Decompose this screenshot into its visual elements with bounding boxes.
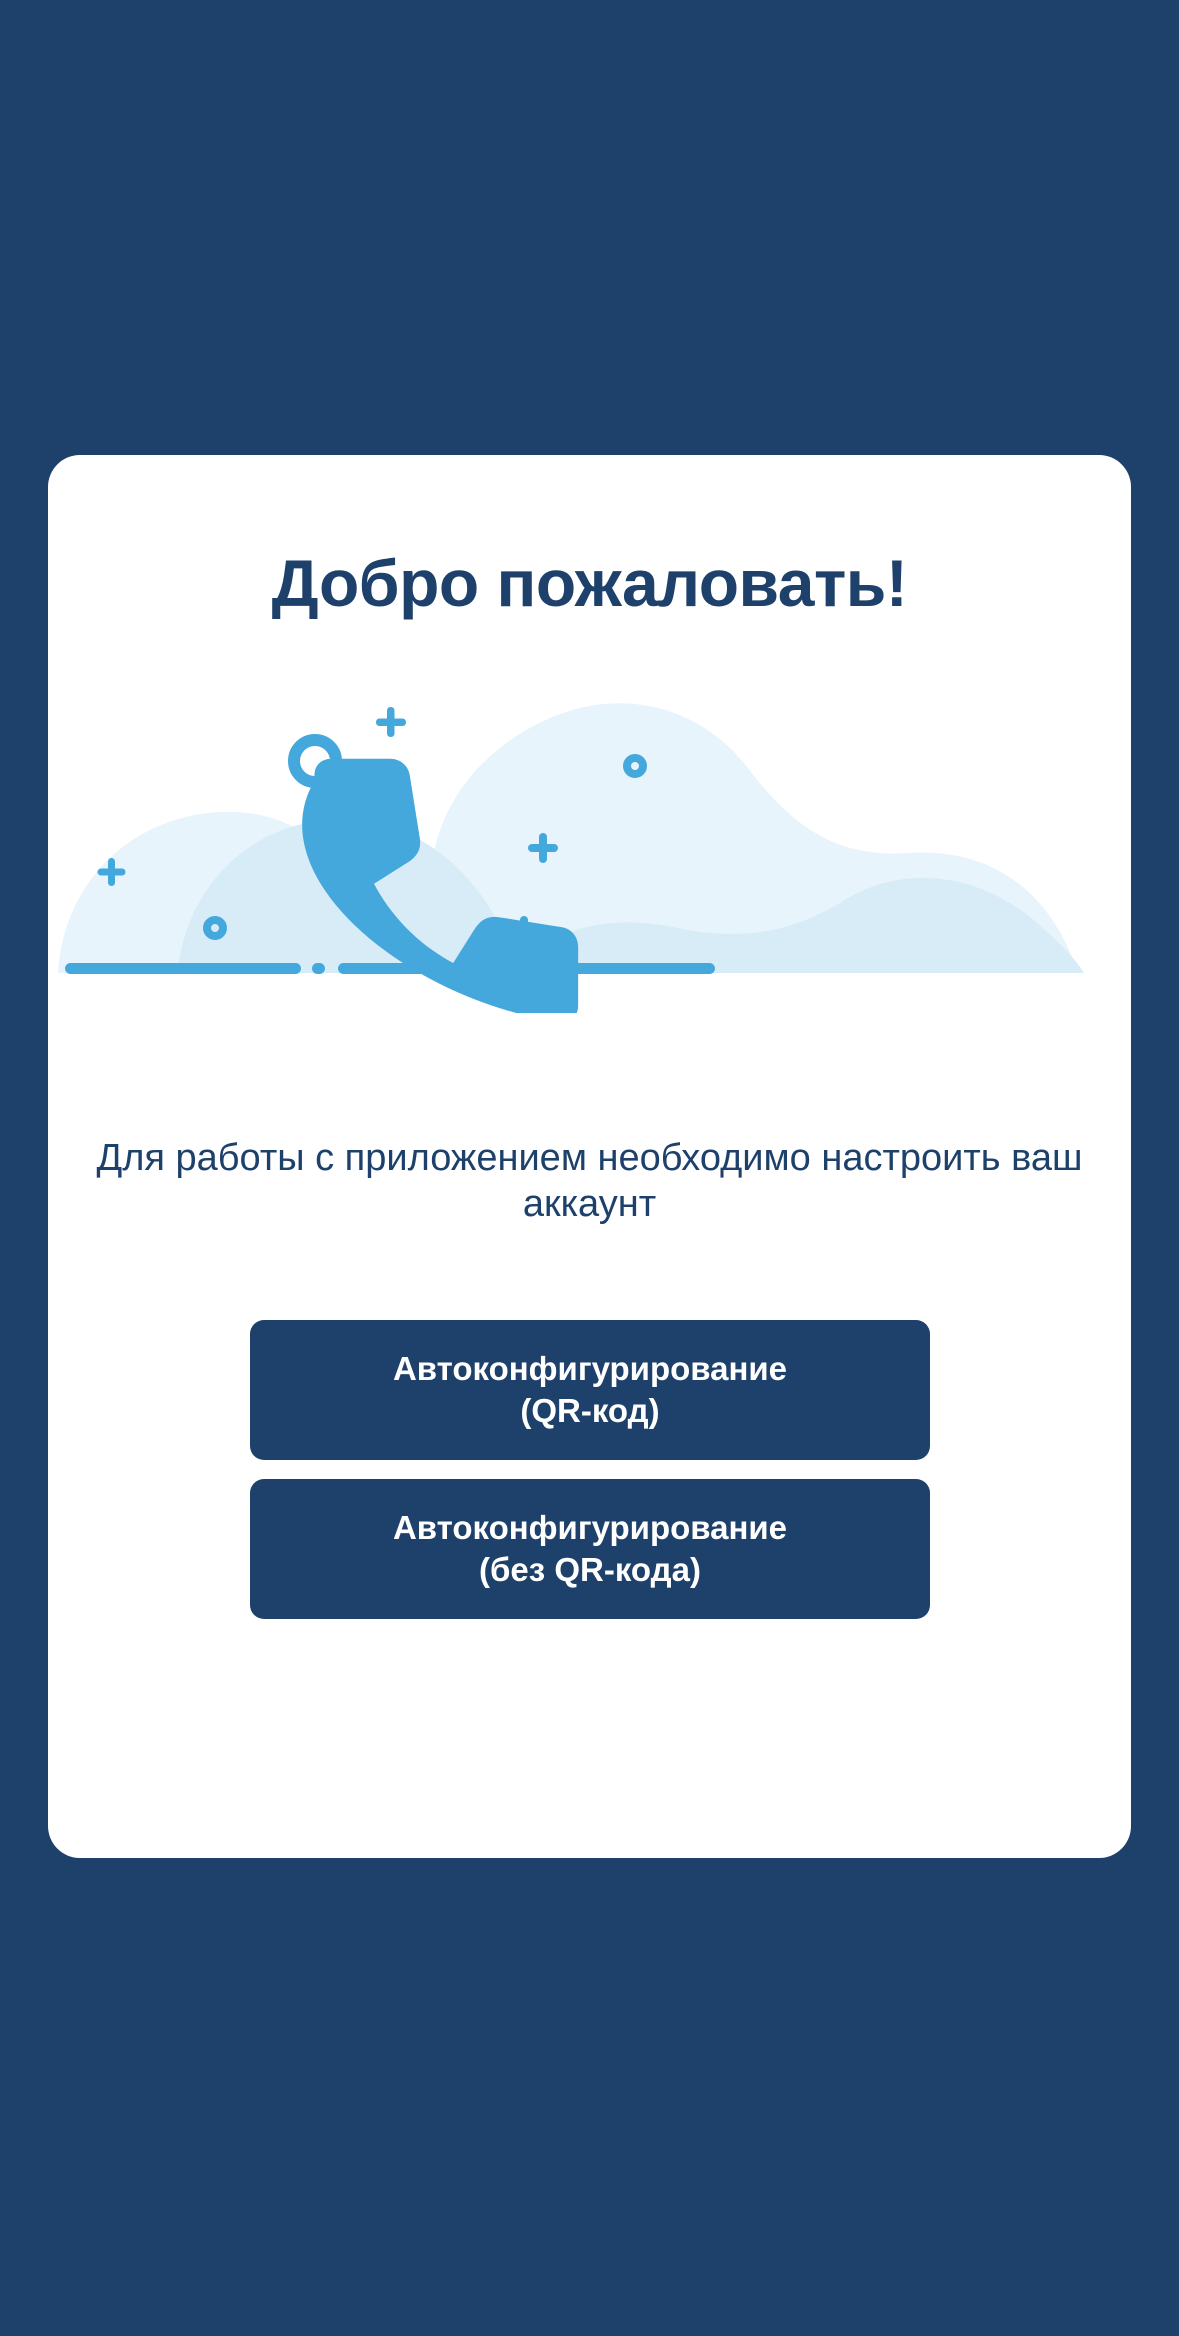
app-screen: Добро пожаловать! (0, 0, 1179, 2336)
welcome-card: Добро пожаловать! (48, 455, 1131, 1858)
setup-instruction-text: Для работы с приложением необходимо наст… (78, 1135, 1101, 1228)
autoconfigure-qr-button-label: Автоконфигурирование (QR-код) (393, 1348, 787, 1432)
autoconfigure-qr-button[interactable]: Автоконфигурирование (QR-код) (250, 1320, 930, 1460)
autoconfigure-no-qr-button[interactable]: Автоконфигурирование (без QR-кода) (250, 1479, 930, 1619)
autoconfigure-no-qr-button-label: Автоконфигурирование (без QR-кода) (393, 1507, 787, 1591)
baseline-divider (65, 963, 715, 974)
phone-handset-illustration (48, 673, 1131, 1013)
plus-decoration-top (376, 707, 406, 737)
page-title: Добро пожаловать! (48, 547, 1131, 620)
